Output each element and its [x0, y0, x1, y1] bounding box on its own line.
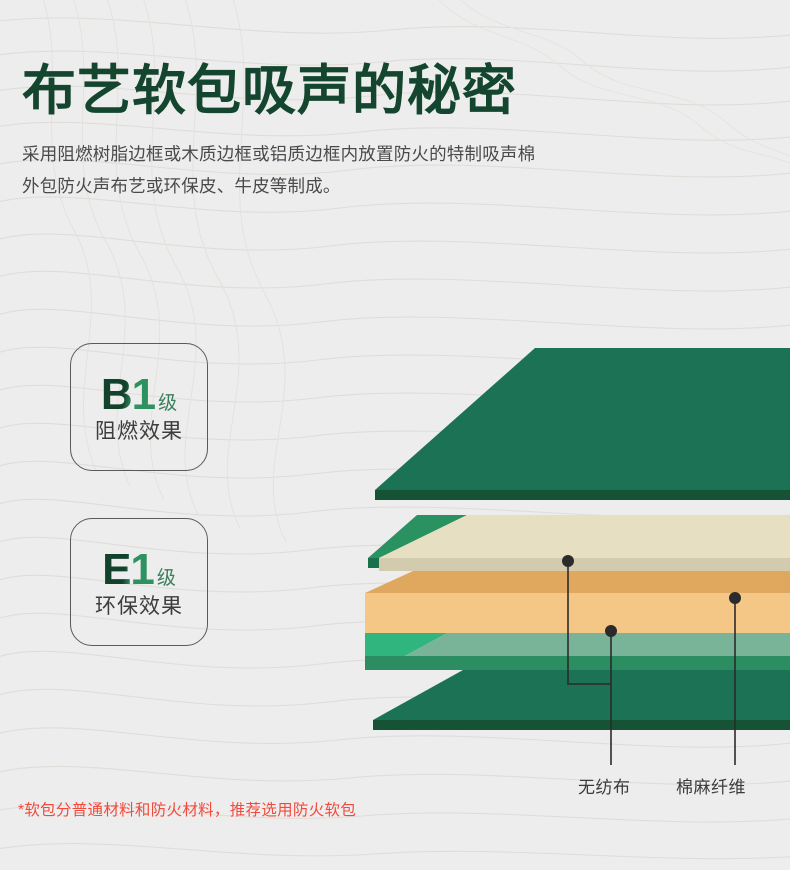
layer-nonwoven-fabric [365, 633, 790, 670]
badge-b1-top: B1 级 [101, 373, 177, 417]
layer-fire-retardant-core [365, 571, 790, 633]
layer-back-board [373, 670, 790, 730]
badge-fire-rating-b1: B1 级 阻燃效果 [70, 343, 208, 471]
badge-e1-top: E1 级 [102, 548, 176, 592]
layer-top-fabric-panel [375, 348, 790, 500]
layer-acoustic-cotton [368, 515, 790, 571]
badge-e1-unit: 级 [157, 569, 176, 588]
page-subtitle: 采用阻燃树脂边框或木质边框或铝质边框内放置防火的特制吸声棉 外包防火声布艺或环保… [22, 138, 762, 203]
badge-b1-description: 阻燃效果 [95, 421, 183, 442]
subtitle-line-1: 采用阻燃树脂边框或木质边框或铝质边框内放置防火的特制吸声棉 [22, 138, 762, 170]
header-block: 布艺软包吸声的秘密 采用阻燃树脂边框或木质边框或铝质边框内放置防火的特制吸声棉 … [22, 60, 762, 203]
badge-b1-unit: 级 [158, 394, 177, 413]
subtitle-line-2: 外包防火声布艺或环保皮、牛皮等制成。 [22, 170, 762, 202]
product-info-page: 布艺软包吸声的秘密 采用阻燃树脂边框或木质边框或铝质边框内放置防火的特制吸声棉 … [0, 0, 790, 870]
badge-e1-description: 环保效果 [95, 596, 183, 617]
badge-e1-grade: E1 [102, 548, 154, 592]
badge-b1-grade: B1 [101, 373, 155, 417]
page-title: 布艺软包吸声的秘密 [22, 60, 762, 122]
callout-label-cotton-linen-fiber: 棉麻纤维 [676, 773, 746, 798]
badge-eco-rating-e1: E1 级 环保效果 [70, 518, 208, 646]
callout-label-nonwoven: 无纺布 [578, 773, 631, 798]
footnote-note: *软包分普通材料和防火材料，推荐选用防火软包 [18, 798, 356, 820]
exploded-layer-diagram [355, 340, 790, 740]
